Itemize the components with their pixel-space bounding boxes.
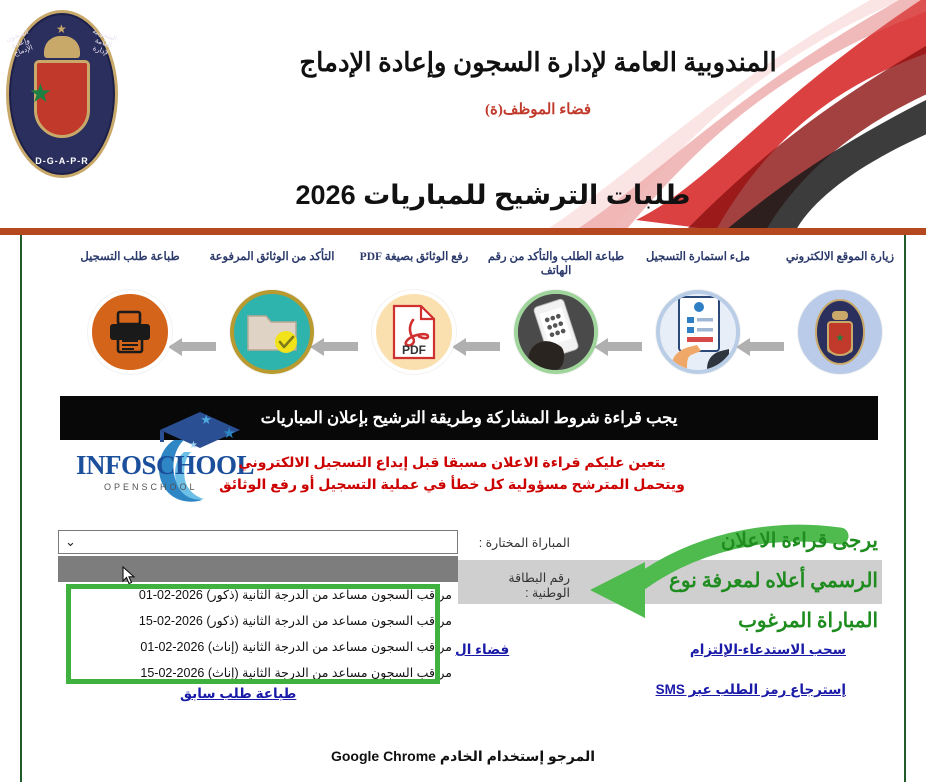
dgapr-emblem-icon: ★ (798, 290, 882, 374)
chevron-down-icon: ⌄ (65, 535, 76, 548)
step-label: زيارة الموقع الالكتروني (770, 250, 910, 284)
link-space[interactable]: فضاء ال (455, 642, 509, 658)
step-print-and-verify-phone: طباعة الطلب والتأكد من رقم الهاتف (486, 250, 626, 374)
orange-divider (0, 228, 926, 235)
page-title: المندوبية العامة لإدارة السجون وإعادة ال… (0, 48, 926, 78)
link-retrieve-code-sms[interactable]: إسترجاع رمز الطلب عبر SMS (656, 682, 846, 698)
pdf-file-icon: PDF (372, 290, 456, 374)
dgapr-emblem-icon: المندوبية العامة لإدارة السجون وإعادة ال… (6, 10, 118, 178)
label-competition: المباراة المختارة : (470, 535, 570, 550)
step-visit-website: زيارة الموقع الالكتروني ★ (770, 250, 910, 374)
phone-hand-icon (514, 290, 598, 374)
svg-text:★: ★ (189, 440, 198, 451)
step-label: رفع الوثائق بصيغة PDF (344, 250, 484, 284)
conditions-banner: يجب قراءة شروط المشاركة وطريقة الترشيح ب… (60, 396, 878, 440)
step-label: طباعة الطلب والتأكد من رقم الهاتف (486, 250, 626, 284)
form-hand-icon (656, 290, 740, 374)
step-upload-pdf: رفع الوثائق بصيغة PDF PDF (344, 250, 484, 374)
folder-check-icon (230, 290, 314, 374)
step-label: التأكد من الوثائق المرفوعة (202, 250, 342, 284)
annotation-line-3: المباراة المرغوب (738, 608, 878, 633)
printer-icon (88, 290, 172, 374)
page-root: المندوبية العامة لإدارة السجون وإعادة ال… (0, 0, 926, 782)
step-label: ملء استمارة التسجيل (628, 250, 768, 284)
label-national-id: رقم البطاقة الوطنية : (470, 570, 570, 600)
link-print-previous-request[interactable]: طباعة طلب سابق (180, 686, 296, 702)
svg-text:★: ★ (836, 333, 845, 344)
page-subtitle: فضاء الموظف(ة) (0, 100, 926, 119)
warning-text: يتعين عليكم قراءة الاعلان مسبقا قبل إيدا… (22, 452, 882, 495)
competition-select[interactable]: ⌄ (58, 530, 458, 554)
main-heading: طلبات الترشيح للمباريات 2026 (0, 180, 926, 211)
step-fill-form: ملء استمارة التسجيل (628, 250, 768, 374)
warning-line-1: يتعين عليكم قراءة الاعلان مسبقا قبل إيدا… (22, 452, 882, 474)
mouse-cursor-icon (122, 566, 136, 586)
footer-browser-note: المرجو إستخدام الخادم Google Chrome (0, 748, 926, 765)
option-item-empty-selected[interactable] (58, 556, 458, 582)
site-header: المندوبية العامة لإدارة السجون وإعادة ال… (0, 0, 926, 228)
conditions-banner-text: يجب قراءة شروط المشاركة وطريقة الترشيح ب… (261, 408, 678, 428)
link-withdraw-summons[interactable]: سحب الاستدعاء-الإلتزام (690, 642, 846, 658)
steps-flow: طباعة طلب التسجيل التأكد من الوثائق المر… (22, 250, 904, 398)
annotation-line-2: الرسمي أعلاه لمعرفة نوع (669, 568, 878, 593)
highlight-box-options (66, 584, 440, 684)
annotation-line-1: يرجى قراءة الاعلان (721, 528, 878, 553)
step-print-registration: طباعة طلب التسجيل (60, 250, 200, 374)
svg-text:PDF: PDF (402, 343, 426, 357)
emblem-acronym: D-G-A-P-R (6, 156, 118, 166)
step-label: طباعة طلب التسجيل (60, 250, 200, 284)
step-verify-documents: التأكد من الوثائق المرفوعة (202, 250, 342, 374)
warning-line-2: ويتحمل المترشح مسؤولية كل خطأ في عملية ا… (22, 474, 882, 496)
